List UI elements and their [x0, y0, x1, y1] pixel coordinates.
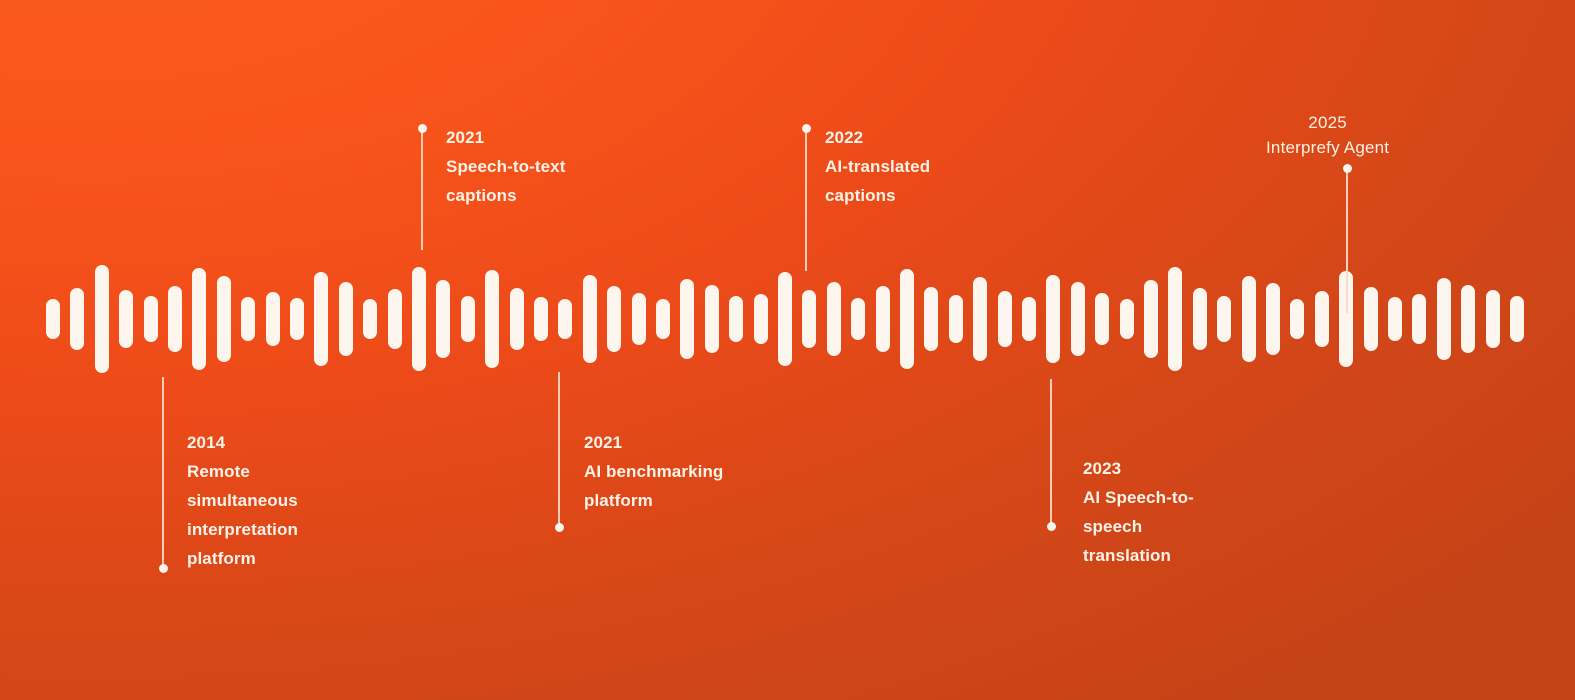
waveform-bar [290, 298, 304, 340]
waveform-bar [705, 285, 719, 353]
waveform-bar [1022, 297, 1036, 341]
waveform-bar [95, 265, 109, 373]
waveform-bar [436, 280, 450, 358]
milestone-connector [162, 377, 164, 569]
waveform-bar [1461, 285, 1475, 353]
waveform-bar [924, 287, 938, 351]
milestone-connector [805, 128, 807, 271]
milestone-year: 2023 [1083, 454, 1194, 483]
connector-dot [1047, 522, 1056, 531]
waveform-bar [900, 269, 914, 369]
waveform-bar [46, 299, 60, 339]
milestone-connector [558, 372, 560, 528]
waveform-bar [192, 268, 206, 370]
milestone-description: Remote simultaneous interpretation platf… [187, 457, 298, 573]
waveform-bar [119, 290, 133, 348]
milestone-year: 2014 [187, 428, 298, 457]
waveform-bar [1510, 296, 1524, 342]
waveform-bar [388, 289, 402, 349]
waveform-bar [241, 297, 255, 341]
milestone-label: 2022AI-translated captions [825, 123, 930, 210]
waveform-bar [827, 282, 841, 356]
waveform-bar [461, 296, 475, 342]
waveform-bar [1290, 299, 1304, 339]
connector-dot [1343, 164, 1352, 173]
connector-dot [159, 564, 168, 573]
waveform-bar [632, 293, 646, 345]
waveform-bar [1412, 294, 1426, 344]
milestone-connector [421, 128, 423, 250]
waveform-bar [1168, 267, 1182, 371]
waveform-bar [754, 294, 768, 344]
connector-line [805, 128, 807, 271]
waveform-bar [339, 282, 353, 356]
milestone-description: Speech-to-text captions [446, 152, 565, 210]
milestone-year: 2022 [825, 123, 930, 152]
milestone-description: AI benchmarking platform [584, 457, 723, 515]
connector-dot [802, 124, 811, 133]
waveform-bar [656, 299, 670, 339]
milestone-description: AI Speech-to- speech translation [1083, 483, 1194, 570]
waveform-bar [680, 279, 694, 359]
waveform-bar [1364, 287, 1378, 351]
milestone-connector [1346, 168, 1348, 313]
waveform-bar [70, 288, 84, 350]
waveform-bar [266, 292, 280, 346]
connector-line [1050, 379, 1052, 527]
audio-waveform [0, 0, 1575, 700]
waveform-bar [144, 296, 158, 342]
waveform-bar [1120, 299, 1134, 339]
waveform-bar [949, 295, 963, 343]
connector-dot [555, 523, 564, 532]
milestone-connector [1050, 379, 1052, 527]
milestone-label: 2023AI Speech-to- speech translation [1083, 454, 1194, 570]
waveform-bar [510, 288, 524, 350]
waveform-bar [412, 267, 426, 371]
waveform-bar [363, 299, 377, 339]
waveform-bar [876, 286, 890, 352]
waveform-bar [485, 270, 499, 368]
connector-dot [418, 124, 427, 133]
timeline-infographic: 2021Speech-to-text captions2022AI-transl… [0, 0, 1575, 700]
waveform-bar [1046, 275, 1060, 363]
waveform-bar [1486, 290, 1500, 348]
connector-line [421, 128, 423, 250]
waveform-bar [314, 272, 328, 366]
waveform-bar [1242, 276, 1256, 362]
milestone-year: 2021 [446, 123, 565, 152]
milestone-description: AI-translated captions [825, 152, 930, 210]
waveform-bar [851, 298, 865, 340]
connector-line [1346, 168, 1348, 313]
waveform-bar [778, 272, 792, 366]
waveform-bar [217, 276, 231, 362]
waveform-bar [558, 299, 572, 339]
waveform-bar [1315, 291, 1329, 347]
waveform-bar [168, 286, 182, 352]
waveform-bar [998, 291, 1012, 347]
waveform-bar [534, 297, 548, 341]
milestone-label: 2014Remote simultaneous interpretation p… [187, 428, 298, 573]
waveform-bar [1193, 288, 1207, 350]
milestone-label: 2021AI benchmarking platform [584, 428, 723, 515]
waveform-bar [973, 277, 987, 361]
waveform-bar [1217, 296, 1231, 342]
waveform-bar [1071, 282, 1085, 356]
waveform-bar [1437, 278, 1451, 360]
milestone-label: 2021Speech-to-text captions [446, 123, 565, 210]
milestone-year: 2021 [584, 428, 723, 457]
waveform-bar [802, 290, 816, 348]
connector-line [558, 372, 560, 528]
milestone-label: 2025Interprefy Agent [1266, 110, 1389, 160]
waveform-bar [1095, 293, 1109, 345]
waveform-bar [1144, 280, 1158, 358]
connector-line [162, 377, 164, 569]
milestone-description: Interprefy Agent [1266, 135, 1389, 160]
waveform-bar [729, 296, 743, 342]
waveform-bar [583, 275, 597, 363]
waveform-bar [1388, 297, 1402, 341]
waveform-bar [1266, 283, 1280, 355]
milestone-year: 2025 [1266, 110, 1389, 135]
waveform-bar [607, 286, 621, 352]
